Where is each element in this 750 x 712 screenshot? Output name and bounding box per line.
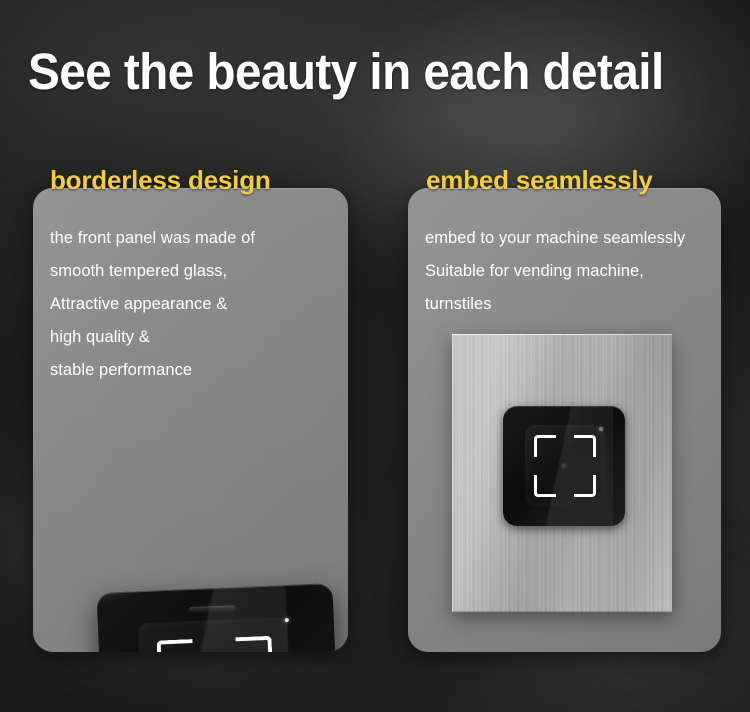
led-indicator-icon — [599, 427, 603, 431]
led-indicator-icon — [285, 618, 289, 622]
black-glass-panel-body — [96, 583, 341, 652]
card-body-line: Suitable for vending machine, — [425, 255, 685, 288]
card-title-borderless-design: borderless design — [50, 165, 271, 195]
card-body-line: high quality & — [50, 321, 255, 354]
card-body-borderless-design: the front panel was made of smooth tempe… — [50, 222, 255, 387]
card-body-line: turnstiles — [425, 288, 685, 321]
card-body-line: Attractive appearance & — [50, 288, 255, 321]
scanner-window-recess — [138, 617, 294, 652]
card-title-embed-seamlessly: embed seamlessly — [426, 165, 653, 195]
embedded-scanner-module — [503, 406, 625, 526]
card-body-line: the front panel was made of — [50, 222, 255, 255]
card-body-embed-seamlessly: embed to your machine seamlessly Suitabl… — [425, 222, 685, 321]
speaker-slot — [189, 605, 235, 614]
card-body-line: stable performance — [50, 354, 255, 387]
camera-lens-dot — [561, 463, 568, 470]
page-title: See the beauty in each detail — [28, 42, 694, 102]
card-body-line: smooth tempered glass, — [50, 255, 255, 288]
product-image-black-panel — [96, 583, 341, 652]
promo-banner: See the beauty in each detail border — [0, 0, 750, 712]
card-body-line: embed to your machine seamlessly — [425, 222, 685, 255]
